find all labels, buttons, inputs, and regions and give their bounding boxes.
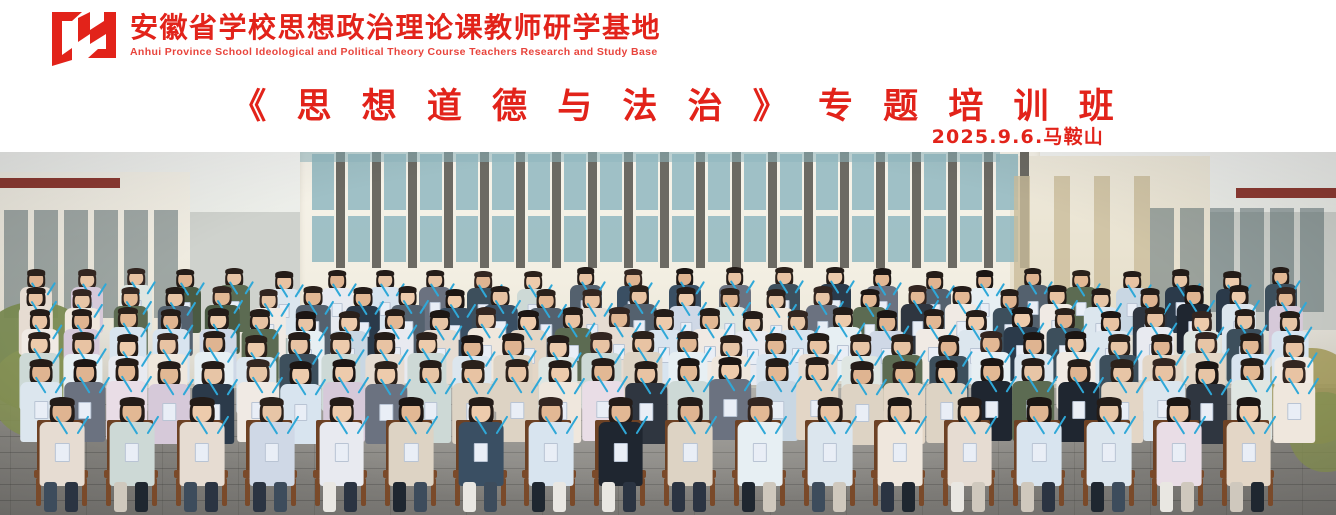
hair-fringe: [1167, 397, 1192, 406]
hair-fringe: [166, 287, 185, 294]
hair-fringe: [539, 397, 564, 406]
id-badge: [163, 403, 176, 421]
hair-fringe: [115, 358, 138, 366]
leg: [812, 482, 825, 512]
leg: [1251, 482, 1264, 512]
leg: [135, 482, 148, 512]
hair-fringe: [127, 268, 145, 274]
hair-fringe: [375, 361, 398, 369]
hair-fringe: [1192, 311, 1212, 318]
id-badge: [962, 443, 976, 462]
hair-fringe: [654, 309, 674, 316]
hair-fringe: [776, 267, 794, 273]
hair-fringe: [289, 361, 312, 369]
hair-fringe: [1024, 268, 1042, 274]
participant-legs: [672, 482, 706, 515]
id-badge: [265, 443, 279, 462]
leg: [1160, 482, 1173, 512]
training-class-banner: 安徽省学校思想政治理论课教师研学基地 Anhui Province School…: [0, 0, 1336, 515]
hair-fringe: [583, 289, 602, 296]
hair-fringe: [1195, 361, 1218, 369]
hair-fringe: [333, 359, 356, 367]
hair-fringe: [980, 331, 1002, 339]
hair-fringe: [1151, 334, 1173, 342]
hair-fringe: [246, 335, 268, 343]
hair-fringe: [677, 358, 700, 366]
hair-fringe: [427, 270, 445, 276]
hair-fringe: [850, 334, 872, 342]
hair-fringe: [1223, 271, 1241, 277]
hair-fringe: [1101, 311, 1121, 318]
id-badge: [511, 402, 524, 420]
participant-legs: [323, 482, 357, 515]
hair-fringe: [608, 397, 633, 406]
hair-fringe: [339, 311, 359, 318]
hair-fringe: [506, 359, 529, 367]
id-badge: [724, 399, 737, 417]
hair-fringe: [1054, 308, 1074, 315]
id-badge: [474, 443, 488, 462]
hair-fringe: [908, 285, 927, 292]
participant-legs: [1230, 482, 1264, 515]
hair-fringe: [399, 397, 424, 406]
leg: [65, 482, 78, 512]
hair-fringe: [1153, 358, 1176, 366]
hair-fringe: [818, 397, 843, 406]
hair-fringe: [767, 289, 786, 296]
hair-fringe: [29, 332, 51, 340]
leg: [833, 482, 846, 512]
hair-fringe: [354, 287, 373, 294]
participant: [1156, 398, 1201, 485]
participant: [1017, 398, 1062, 485]
participant: [668, 398, 713, 485]
participant: [598, 398, 643, 485]
hair-fringe: [938, 335, 960, 343]
hair-fringe: [1097, 397, 1122, 406]
id-badge: [195, 443, 209, 462]
hair-fringe: [30, 359, 53, 367]
hair-fringe: [592, 358, 615, 366]
hair-fringe: [635, 361, 658, 369]
hair-fringe: [190, 397, 215, 406]
leg: [972, 482, 985, 512]
hair-fringe: [398, 286, 417, 293]
hair-fringe: [208, 308, 228, 315]
hair-fringe: [976, 270, 994, 276]
hair-fringe: [748, 397, 773, 406]
hair-fringe: [117, 334, 139, 342]
hair-fringe: [1111, 359, 1134, 367]
leg: [1112, 482, 1125, 512]
participant-legs: [393, 482, 427, 515]
participant-legs: [253, 482, 287, 515]
id-badge: [1172, 443, 1186, 462]
id-badge: [683, 443, 697, 462]
id-badge: [1032, 443, 1046, 462]
id-badge: [613, 443, 627, 462]
main-title: 《 思 想 道 德 与 法 治 》 专 题 培 训 班: [0, 78, 1336, 129]
leg: [184, 482, 197, 512]
hair-fringe: [176, 269, 194, 275]
hair-fringe: [630, 285, 649, 292]
hair-fringe: [1276, 287, 1295, 294]
hair-fringe: [27, 269, 45, 275]
hair-fringe: [524, 271, 542, 277]
hair-fringe: [73, 359, 96, 367]
hair-fringe: [721, 288, 740, 295]
hair-fringe: [259, 397, 284, 406]
id-badge: [1241, 443, 1255, 462]
hair-fringe: [416, 332, 438, 340]
hair-fringe: [926, 271, 944, 277]
leg: [693, 482, 706, 512]
hair-fringe: [1283, 360, 1306, 368]
hair-fringe: [924, 309, 944, 316]
participant-legs: [951, 482, 985, 515]
id-badge: [404, 443, 418, 462]
organization-name-cn: 安徽省学校思想政治理论课教师研学基地: [130, 12, 661, 43]
hair-fringe: [1048, 285, 1067, 292]
hair-fringe: [609, 307, 629, 314]
id-badge: [1102, 443, 1116, 462]
hair-fringe: [1236, 397, 1261, 406]
hair-fringe: [833, 307, 853, 314]
hair-fringe: [549, 360, 572, 368]
leg: [393, 482, 406, 512]
hair-fringe: [700, 308, 720, 315]
hair-fringe: [1140, 288, 1159, 295]
participant: [249, 398, 294, 485]
hair-fringe: [288, 332, 310, 340]
hair-fringe: [157, 333, 179, 341]
leg: [205, 482, 218, 512]
leg: [323, 482, 336, 512]
hair-fringe: [1091, 288, 1110, 295]
hair-fringe: [120, 397, 145, 406]
hair-fringe: [78, 269, 96, 275]
hair-fringe: [935, 360, 958, 368]
hair-fringe: [1235, 309, 1255, 316]
hair-fringe: [518, 310, 538, 317]
group-photo: [0, 152, 1336, 515]
participant-legs: [463, 482, 497, 515]
hair-fringe: [677, 287, 696, 294]
participant-legs: [44, 482, 78, 515]
hair-fringe: [158, 361, 181, 369]
date-location-label: 2025.9.6.马鞍山: [932, 122, 1104, 149]
id-badge: [334, 443, 348, 462]
leg: [602, 482, 615, 512]
hair-fringe: [1184, 285, 1203, 292]
hair-fringe: [877, 310, 897, 317]
participants-crowd: [0, 152, 1336, 515]
participant-legs: [881, 482, 915, 515]
hair-fringe: [491, 286, 510, 293]
id-badge: [823, 443, 837, 462]
hair-fringe: [161, 309, 181, 316]
hair-fringe: [957, 397, 982, 406]
leg: [902, 482, 915, 512]
hair-fringe: [1023, 332, 1045, 340]
id-badge: [1288, 403, 1301, 421]
hair-fringe: [860, 289, 879, 296]
hair-fringe: [474, 271, 492, 277]
leg: [1181, 482, 1194, 512]
hair-fringe: [461, 335, 483, 343]
participant-legs: [1160, 482, 1194, 515]
participant: [738, 398, 783, 485]
hair-fringe: [1229, 285, 1248, 292]
hair-fringe: [677, 331, 699, 339]
hair-fringe: [1145, 307, 1165, 314]
hair-fringe: [329, 397, 354, 406]
id-badge: [893, 443, 907, 462]
participant: [389, 398, 434, 485]
hair-fringe: [247, 359, 270, 367]
hair-fringe: [377, 270, 395, 276]
hair-fringe: [632, 331, 654, 339]
hair-fringe: [624, 269, 642, 275]
leg: [414, 482, 427, 512]
participant: [1087, 398, 1132, 485]
hair-fringe: [469, 397, 494, 406]
hair-fringe: [1240, 333, 1262, 341]
hair-fringe: [1022, 358, 1045, 366]
hair-fringe: [1027, 397, 1052, 406]
participant-legs: [1021, 482, 1055, 515]
leg: [672, 482, 685, 512]
leg: [274, 482, 287, 512]
hair-fringe: [743, 311, 763, 318]
hair-fringe: [30, 309, 50, 316]
hair-fringe: [476, 307, 496, 314]
hair-fringe: [225, 268, 243, 274]
participant-legs: [812, 482, 846, 515]
hair-fringe: [1280, 311, 1300, 318]
id-badge: [753, 443, 767, 462]
hair-fringe: [296, 311, 316, 318]
participant-legs: [532, 482, 566, 515]
hair-fringe: [213, 286, 232, 293]
hair-fringe: [445, 289, 464, 296]
id-badge: [1072, 401, 1085, 419]
hair-fringe: [202, 361, 225, 369]
hair-fringe: [953, 286, 972, 293]
hair-fringe: [1240, 358, 1263, 366]
hair-fringe: [1195, 332, 1217, 340]
hair-fringe: [50, 397, 75, 406]
hair-fringe: [726, 267, 744, 273]
hair-fringe: [121, 287, 140, 294]
participant-legs: [114, 482, 148, 515]
leg: [763, 482, 776, 512]
hair-fringe: [259, 289, 278, 296]
organization-name-block: 安徽省学校思想政治理论课教师研学基地 Anhui Province School…: [130, 8, 661, 58]
hair-fringe: [720, 335, 742, 343]
hair-fringe: [1000, 289, 1019, 296]
hair-fringe: [788, 310, 808, 317]
leg: [623, 482, 636, 512]
organization-name-en: Anhui Province School Ideological and Po…: [130, 46, 661, 58]
hair-fringe: [1108, 334, 1130, 342]
leg: [253, 482, 266, 512]
leg: [1021, 482, 1034, 512]
hair-fringe: [1072, 270, 1090, 276]
poster-header: 安徽省学校思想政治理论课教师研学基地 Anhui Province School…: [0, 0, 1336, 152]
hair-fringe: [203, 331, 225, 339]
hair-fringe: [678, 397, 703, 406]
leg: [1230, 482, 1243, 512]
participant: [1274, 361, 1316, 442]
hair-fringe: [118, 307, 138, 314]
hair-fringe: [72, 332, 94, 340]
hair-fringe: [807, 333, 829, 341]
leg: [532, 482, 545, 512]
hair-fringe: [591, 332, 613, 340]
participant: [947, 398, 992, 485]
hair-fringe: [73, 289, 92, 296]
hair-fringe: [374, 332, 396, 340]
hair-fringe: [1065, 331, 1087, 339]
hair-fringe: [1172, 269, 1190, 275]
hair-fringe: [462, 360, 485, 368]
leg: [344, 482, 357, 512]
leg: [463, 482, 476, 512]
hair-fringe: [1123, 271, 1141, 277]
id-badge: [125, 443, 139, 462]
hair-fringe: [719, 357, 742, 365]
hair-fringe: [827, 267, 845, 273]
hair-fringe: [980, 358, 1003, 366]
hair-fringe: [537, 289, 556, 296]
participant: [110, 398, 155, 485]
anhui-base-emblem-icon: [48, 8, 120, 70]
leg: [44, 482, 57, 512]
hair-fringe: [892, 334, 914, 342]
hair-fringe: [892, 361, 915, 369]
hair-fringe: [304, 286, 323, 293]
hair-fringe: [1283, 335, 1305, 343]
participant-legs: [1091, 482, 1125, 515]
hair-fringe: [275, 271, 293, 277]
leg: [1091, 482, 1104, 512]
hair-fringe: [330, 332, 352, 340]
hair-fringe: [966, 310, 986, 317]
hair-fringe: [1012, 307, 1032, 314]
participant: [1226, 398, 1271, 485]
hair-fringe: [873, 268, 891, 274]
hair-fringe: [1067, 359, 1090, 367]
hair-fringe: [813, 286, 832, 293]
id-badge: [55, 443, 69, 462]
hair-fringe: [26, 287, 45, 294]
leg: [1042, 482, 1055, 512]
leg: [951, 482, 964, 512]
hair-fringe: [766, 358, 789, 366]
participant-legs: [742, 482, 776, 515]
hair-fringe: [547, 335, 569, 343]
participant: [180, 398, 225, 485]
id-badge: [855, 404, 868, 422]
hair-fringe: [676, 268, 694, 274]
hair-fringe: [430, 310, 450, 317]
hair-fringe: [851, 361, 874, 369]
hair-fringe: [385, 309, 405, 316]
id-badge: [544, 443, 558, 462]
leg: [114, 482, 127, 512]
participant-legs: [184, 482, 218, 515]
participant: [40, 398, 85, 485]
leg: [881, 482, 894, 512]
leg: [742, 482, 755, 512]
hair-fringe: [887, 397, 912, 406]
hair-fringe: [806, 357, 829, 365]
hair-fringe: [328, 270, 346, 276]
hair-fringe: [502, 333, 524, 341]
hair-fringe: [71, 309, 91, 316]
participant: [528, 398, 573, 485]
hair-fringe: [250, 309, 270, 316]
participant: [319, 398, 364, 485]
participant: [459, 398, 504, 485]
hair-fringe: [1272, 267, 1290, 273]
participant-legs: [602, 482, 636, 515]
leg: [484, 482, 497, 512]
hair-fringe: [765, 333, 787, 341]
hair-fringe: [563, 307, 583, 314]
leg: [553, 482, 566, 512]
participant: [808, 398, 853, 485]
participant: [877, 398, 922, 485]
hair-fringe: [577, 267, 595, 273]
hair-fringe: [419, 360, 442, 368]
organization-brand: 安徽省学校思想政治理论课教师研学基地 Anhui Province School…: [48, 8, 661, 70]
